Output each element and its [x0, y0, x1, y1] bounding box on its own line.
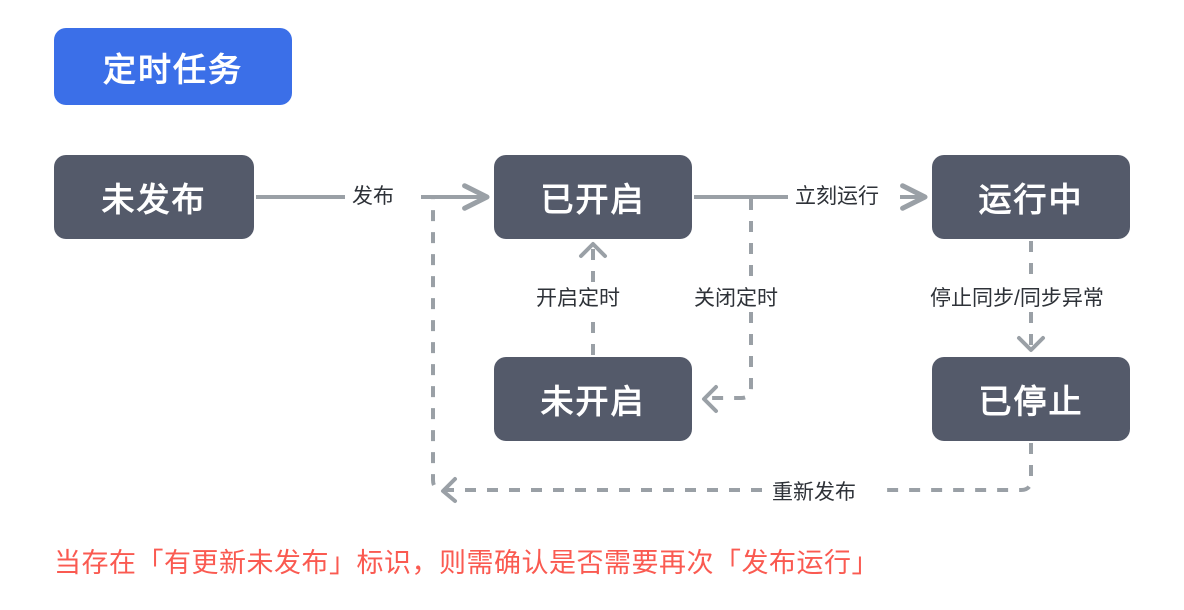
state-node-stopped[interactable]: 已停止	[932, 357, 1130, 441]
diagram-canvas: 定时任务 未发布 已开启 运行中 未开启 已停止 发布 立刻运行 开启定时 关闭…	[0, 0, 1184, 610]
edge-label-stop-sync: 停止同步/同步异常	[930, 288, 1104, 309]
footnote-text: 当存在「有更新未发布」标识，则需确认是否需要再次「发布运行」	[54, 541, 879, 580]
edge-label-republish: 重新发布	[772, 482, 856, 503]
state-node-disabled[interactable]: 未开启	[494, 357, 692, 441]
state-node-running[interactable]: 运行中	[932, 155, 1130, 239]
title-badge: 定时任务	[54, 28, 292, 105]
state-node-enabled[interactable]: 已开启	[494, 155, 692, 239]
edge-label-enable-timer: 开启定时	[536, 288, 620, 309]
edge-label-publish: 发布	[352, 186, 394, 207]
state-node-unpublished[interactable]: 未发布	[54, 155, 254, 239]
edge-republish	[433, 199, 1031, 501]
edge-label-run-now: 立刻运行	[795, 186, 879, 207]
edge-label-close-timer: 关闭定时	[694, 288, 778, 309]
